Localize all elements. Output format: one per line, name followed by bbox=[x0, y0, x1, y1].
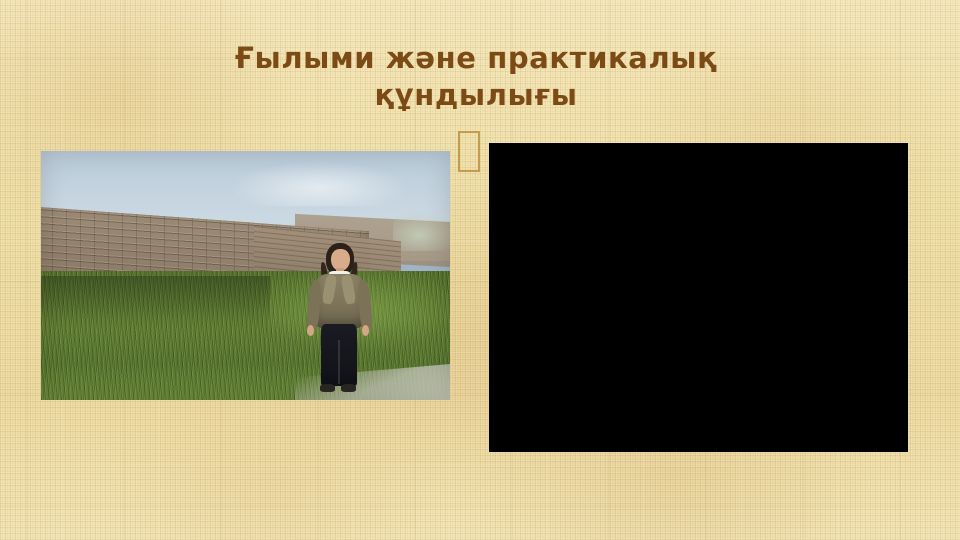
person-hand-left bbox=[307, 325, 314, 335]
video-placeholder[interactable] bbox=[489, 143, 908, 452]
title-line-1: Ғылыми және практикалық bbox=[140, 40, 812, 77]
photo-grass-shadow bbox=[41, 276, 270, 331]
person-trouser-gap bbox=[338, 340, 340, 384]
field-photo-ancient-brick-wall[interactable] bbox=[41, 151, 450, 400]
title-line-2: құндылығы bbox=[140, 77, 812, 114]
unrendered-glyph-box-icon bbox=[458, 131, 480, 172]
photo-cloud bbox=[229, 161, 409, 206]
slide-title: Ғылыми және практикалық құндылығы bbox=[140, 40, 812, 114]
photo-shrub bbox=[393, 211, 450, 251]
person-shoe-right bbox=[341, 384, 356, 391]
photo-person bbox=[301, 243, 379, 390]
person-shoe-left bbox=[320, 384, 335, 391]
slide-canvas: Ғылыми және практикалық құндылығы bbox=[0, 0, 960, 540]
person-hand-right bbox=[362, 325, 369, 335]
